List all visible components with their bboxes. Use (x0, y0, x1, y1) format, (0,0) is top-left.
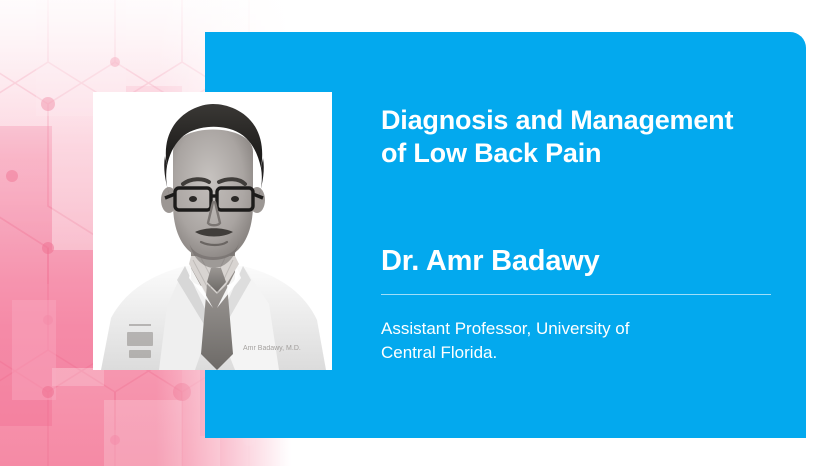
page-title: Diagnosis and Management of Low Back Pai… (381, 104, 781, 170)
speaker-affiliation: Assistant Professor, University of Centr… (381, 295, 711, 365)
title-line-2: of Low Back Pain (381, 138, 601, 168)
affiliation-line-2: Central Florida. (381, 343, 497, 362)
title-line-1: Diagnosis and Management (381, 105, 733, 135)
speaker-portrait: Amr Badawy, M.D. (93, 92, 332, 370)
coat-badge-text: Amr Badawy, M.D. (243, 345, 301, 352)
affiliation-line-1: Assistant Professor, University of (381, 319, 629, 338)
speaker-photo-card: Amr Badawy, M.D. (93, 92, 332, 370)
slide-text-block: Diagnosis and Management of Low Back Pai… (381, 104, 781, 365)
presentation-slide: Amr Badawy, M.D. Diagnosis and Managemen… (0, 0, 828, 466)
speaker-name: Dr. Amr Badawy (381, 170, 781, 278)
